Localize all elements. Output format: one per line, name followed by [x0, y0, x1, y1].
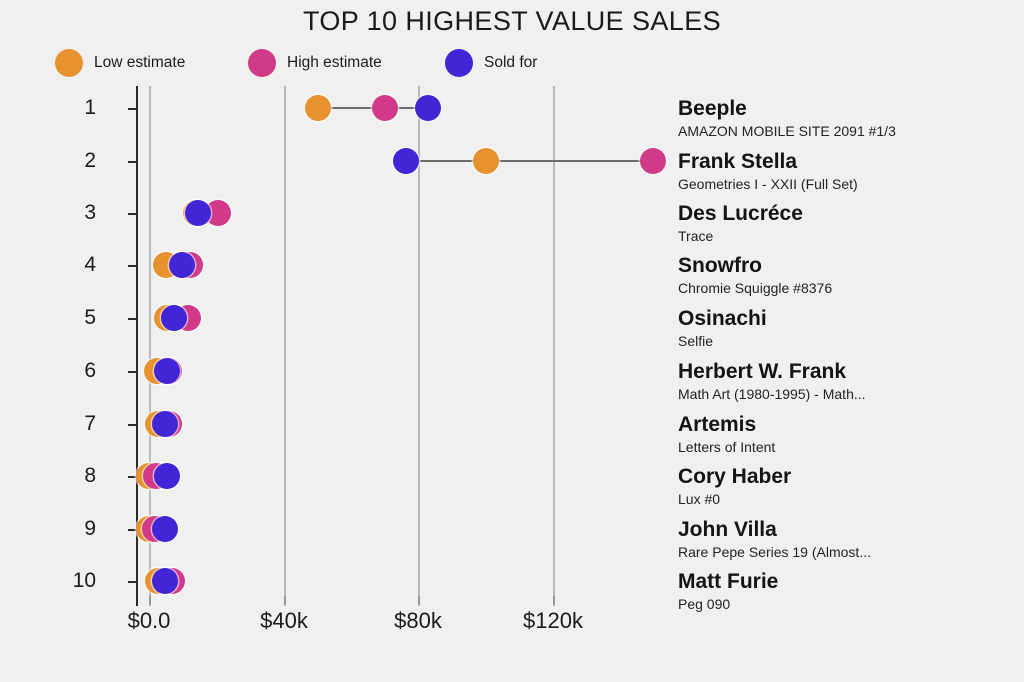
artwork-title: Selfie [678, 332, 1024, 349]
list-item[interactable]: Des LucréceTrace [678, 202, 1024, 244]
artwork-title: Chromie Squiggle #8376 [678, 279, 1024, 296]
x-tick-mark-2 [418, 596, 420, 605]
data-point-sold[interactable] [152, 516, 178, 542]
x-tick-label-1: $40k [260, 608, 308, 634]
data-point-sold[interactable] [154, 463, 180, 489]
connector-line [406, 160, 653, 162]
artwork-title: Math Art (1980-1995) - Math... [678, 385, 1024, 402]
data-point-high[interactable] [372, 95, 398, 121]
list-item[interactable]: Cory HaberLux #0 [678, 465, 1024, 507]
data-point-sold[interactable] [161, 305, 187, 331]
chart-container: TOP 10 HIGHEST VALUE SALES Low estimateH… [0, 0, 1024, 682]
x-tick-mark-3 [553, 596, 555, 605]
data-point-sold[interactable] [185, 200, 211, 226]
artist-name: Beeple [678, 97, 1024, 121]
y-tick-label-10: 10 [73, 569, 96, 593]
y-tick-label-8: 8 [84, 464, 96, 488]
x-tick-label-2: $80k [394, 608, 442, 634]
y-tick-label-7: 7 [84, 412, 96, 436]
data-point-sold[interactable] [415, 95, 441, 121]
artwork-title: Trace [678, 227, 1024, 244]
y-tick-mark-1 [128, 108, 136, 110]
y-tick-label-9: 9 [84, 517, 96, 541]
y-tick-label-5: 5 [84, 306, 96, 330]
x-tick-mark-0 [149, 596, 151, 605]
data-point-sold[interactable] [154, 358, 180, 384]
list-item[interactable]: Matt FuriePeg 090 [678, 570, 1024, 612]
data-point-low[interactable] [473, 148, 499, 174]
data-point-low[interactable] [305, 95, 331, 121]
list-item[interactable]: OsinachiSelfie [678, 307, 1024, 349]
data-point-high[interactable] [640, 148, 666, 174]
artist-name: Artemis [678, 413, 1024, 437]
sale-label-list: BeepleAMAZON MOBILE SITE 2091 #1/3Frank … [678, 0, 1024, 682]
x-tick-label-0: $0.0 [128, 608, 171, 634]
artist-name: Herbert W. Frank [678, 360, 1024, 384]
y-tick-mark-6 [128, 371, 136, 373]
x-tick-mark-1 [284, 596, 286, 605]
y-tick-label-6: 6 [84, 359, 96, 383]
artist-name: Osinachi [678, 307, 1024, 331]
artwork-title: AMAZON MOBILE SITE 2091 #1/3 [678, 122, 1024, 139]
artist-name: Frank Stella [678, 150, 1024, 174]
y-tick-mark-9 [128, 529, 136, 531]
data-point-sold[interactable] [169, 252, 195, 278]
y-tick-mark-5 [128, 318, 136, 320]
x-tick-label-3: $120k [523, 608, 583, 634]
list-item[interactable]: SnowfroChromie Squiggle #8376 [678, 254, 1024, 296]
artist-name: John Villa [678, 518, 1024, 542]
artwork-title: Letters of Intent [678, 438, 1024, 455]
artwork-title: Rare Pepe Series 19 (Almost... [678, 543, 1024, 560]
artist-name: Matt Furie [678, 570, 1024, 594]
list-item[interactable]: BeepleAMAZON MOBILE SITE 2091 #1/3 [678, 97, 1024, 139]
gridline-40000 [284, 86, 286, 606]
y-tick-mark-7 [128, 424, 136, 426]
list-item[interactable]: John VillaRare Pepe Series 19 (Almost... [678, 518, 1024, 560]
list-item[interactable]: ArtemisLetters of Intent [678, 413, 1024, 455]
artwork-title: Geometries I - XXII (Full Set) [678, 175, 1024, 192]
y-tick-mark-2 [128, 161, 136, 163]
y-tick-label-4: 4 [84, 253, 96, 277]
list-item[interactable]: Herbert W. FrankMath Art (1980-1995) - M… [678, 360, 1024, 402]
y-tick-label-2: 2 [84, 149, 96, 173]
y-tick-mark-4 [128, 265, 136, 267]
list-item[interactable]: Frank StellaGeometries I - XXII (Full Se… [678, 150, 1024, 192]
artwork-title: Lux #0 [678, 490, 1024, 507]
data-point-sold[interactable] [393, 148, 419, 174]
y-tick-label-1: 1 [84, 96, 96, 120]
data-point-sold[interactable] [152, 411, 178, 437]
y-tick-mark-10 [128, 581, 136, 583]
artwork-title: Peg 090 [678, 595, 1024, 612]
y-tick-label-3: 3 [84, 201, 96, 225]
artist-name: Des Lucréce [678, 202, 1024, 226]
y-tick-mark-8 [128, 476, 136, 478]
y-tick-mark-3 [128, 213, 136, 215]
gridline-120000 [553, 86, 555, 606]
artist-name: Snowfro [678, 254, 1024, 278]
data-point-sold[interactable] [152, 568, 178, 594]
artist-name: Cory Haber [678, 465, 1024, 489]
